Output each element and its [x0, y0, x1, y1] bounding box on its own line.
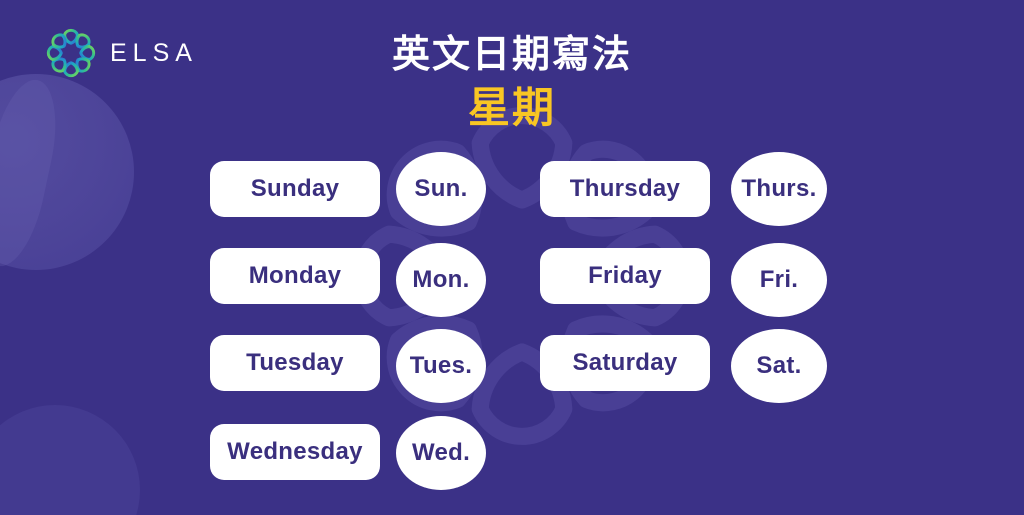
- day-card-full-monday: Monday: [210, 248, 380, 304]
- day-card-full-saturday: Saturday: [540, 335, 710, 391]
- day-card-full-wednesday: Wednesday: [210, 424, 380, 480]
- day-card-abbr-saturday: Sat.: [731, 329, 827, 403]
- day-card-full-tuesday: Tuesday: [210, 335, 380, 391]
- day-card-abbr-monday: Mon.: [396, 243, 486, 317]
- day-card-abbr-sunday: Sun.: [396, 152, 486, 226]
- day-card-full-friday: Friday: [540, 248, 710, 304]
- day-card-abbr-thursday: Thurs.: [731, 152, 827, 226]
- day-card-abbr-tuesday: Tues.: [396, 329, 486, 403]
- day-card-full-thursday: Thursday: [540, 161, 710, 217]
- day-card-abbr-wednesday: Wed.: [396, 416, 486, 490]
- infographic-canvas: ELSA 英文日期寫法 星期 Sunday Sun. Monday Mon. T…: [0, 0, 1024, 515]
- day-card-full-sunday: Sunday: [210, 161, 380, 217]
- day-card-abbr-friday: Fri.: [731, 243, 827, 317]
- day-cards-layer: Sunday Sun. Monday Mon. Tuesday Tues. We…: [0, 0, 1024, 515]
